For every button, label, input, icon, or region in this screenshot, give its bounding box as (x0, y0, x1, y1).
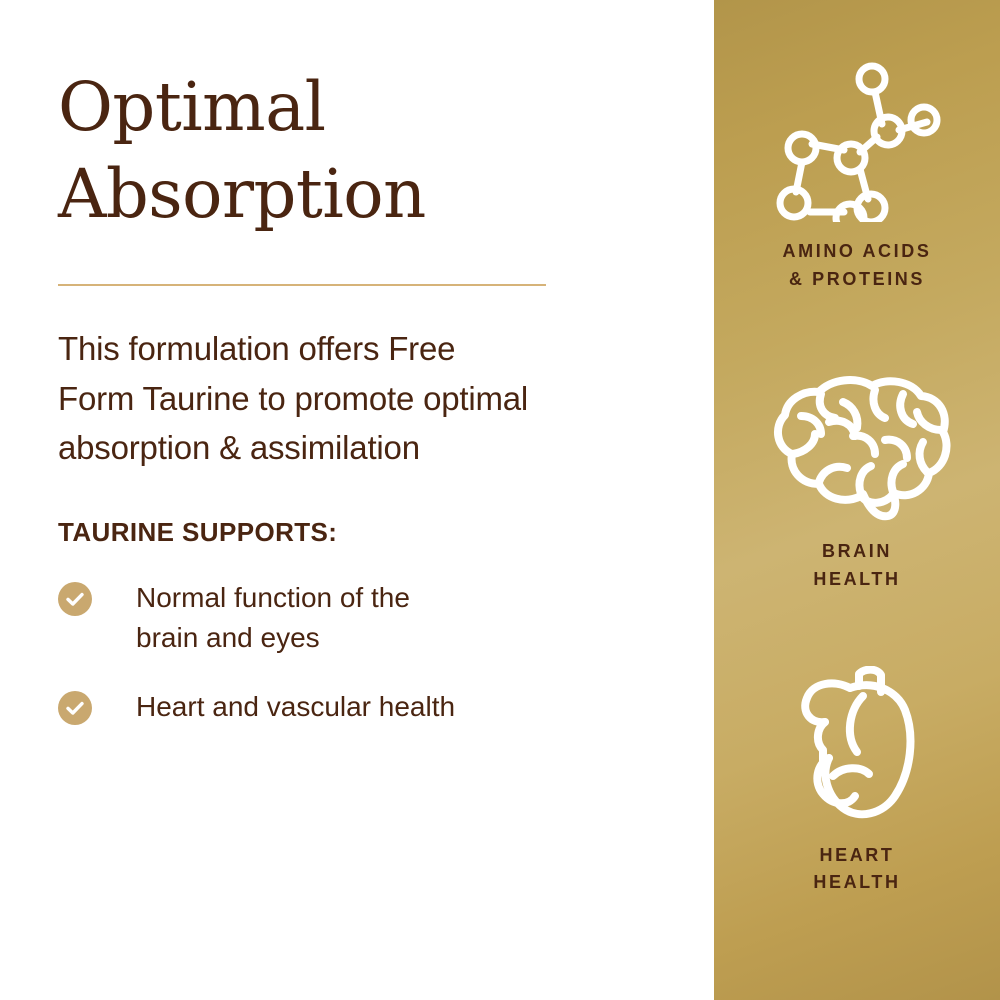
supports-heading: TAURINE SUPPORTS: (58, 517, 714, 548)
feature-label-line-2: HEALTH (813, 869, 900, 897)
left-content-panel: Optimal Absorption This formulation offe… (0, 0, 714, 1000)
check-circle-icon (58, 582, 92, 616)
feature-label: BRAIN HEALTH (813, 538, 900, 594)
feature-heart-health: HEART HEALTH (714, 666, 1000, 898)
product-benefit-infographic: Optimal Absorption This formulation offe… (0, 0, 1000, 1000)
check-circle-icon (58, 691, 92, 725)
brain-icon (757, 372, 957, 522)
feature-label-line-1: HEART (813, 842, 900, 870)
feature-amino-acids: AMINO ACIDS & PROTEINS (714, 52, 1000, 294)
feature-label: AMINO ACIDS & PROTEINS (783, 238, 932, 294)
page-title: Optimal Absorption (58, 58, 714, 238)
feature-label-line-2: & PROTEINS (783, 266, 932, 294)
intro-paragraph: This formulation offers Free Form Taurin… (58, 324, 683, 473)
molecule-icon (772, 52, 942, 222)
feature-label-line-2: HEALTH (813, 566, 900, 594)
feature-label-line-1: AMINO ACIDS (783, 238, 932, 266)
title-divider (58, 284, 546, 286)
feature-label: HEART HEALTH (813, 842, 900, 898)
list-item-label-line-1: Normal function of the (136, 578, 410, 619)
page-title-line-1: Optimal (58, 64, 714, 151)
intro-line-3: absorption & assimilation (58, 423, 683, 473)
list-item: Heart and vascular health (58, 687, 714, 728)
heart-icon (787, 666, 927, 826)
list-item: Normal function of the brain and eyes (58, 578, 714, 659)
list-item-label-line-2: brain and eyes (136, 618, 410, 659)
intro-line-1: This formulation offers Free (58, 324, 683, 374)
list-item-label: Heart and vascular health (136, 687, 455, 728)
feature-brain-health: BRAIN HEALTH (714, 372, 1000, 594)
list-item-label-line-1: Heart and vascular health (136, 687, 455, 728)
benefits-sidebar: AMINO ACIDS & PROTEINS (714, 0, 1000, 1000)
feature-label-line-1: BRAIN (813, 538, 900, 566)
supports-list: Normal function of the brain and eyes He… (58, 578, 714, 728)
intro-line-2: Form Taurine to promote optimal (58, 374, 683, 424)
page-title-line-2: Absorption (58, 151, 714, 238)
list-item-label: Normal function of the brain and eyes (136, 578, 410, 659)
